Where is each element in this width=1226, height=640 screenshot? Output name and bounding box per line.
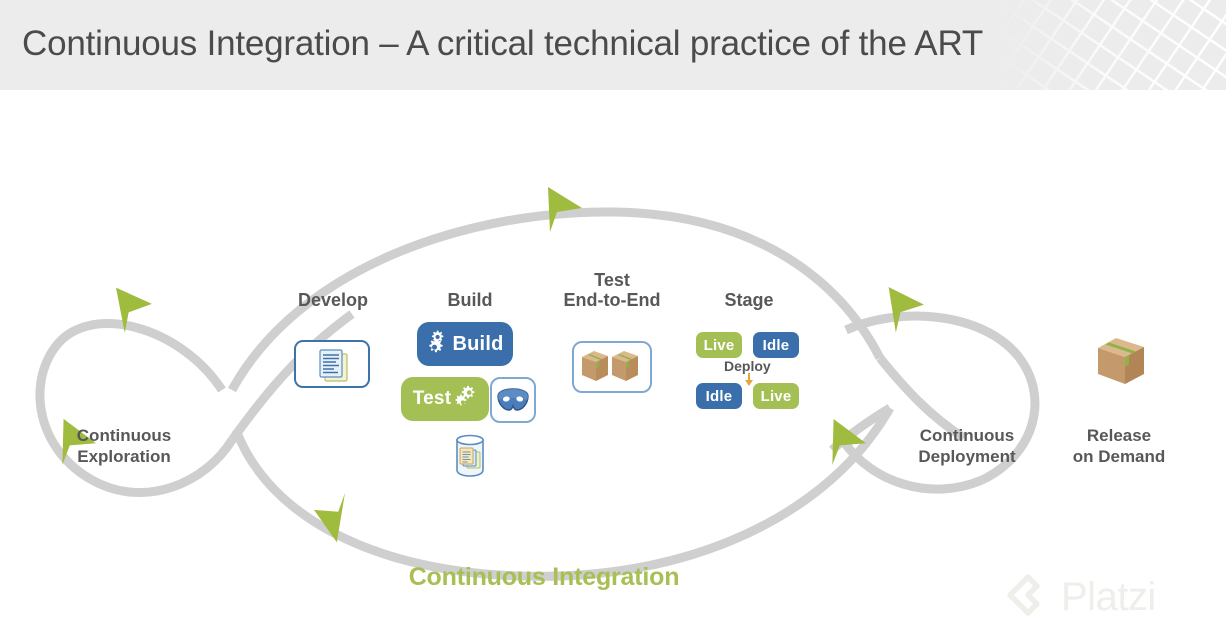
platzi-watermark: Platzi (1007, 568, 1219, 626)
database-icon-wrap (447, 430, 493, 480)
test-end-to-end-icon-box (572, 341, 652, 393)
center-lens-bottom (236, 408, 890, 576)
mask-icon (492, 379, 534, 421)
stage-label-develop: Develop (253, 290, 413, 310)
stage-label-test-end-to-end: Test End-to-End (532, 270, 692, 310)
package-icon (612, 351, 638, 381)
slide-header: Continuous Integration – A critical tech… (0, 0, 1226, 90)
build-pill-label: Build (453, 333, 504, 356)
stage-pill-idle-top: Idle (753, 332, 799, 358)
platzi-wordmark: Platzi (1061, 577, 1156, 617)
endpoint-right-line1: Continuous (888, 425, 1046, 446)
slide-canvas: Continuous Integration – A critical tech… (0, 0, 1226, 640)
test-pill-label: Test (413, 388, 451, 410)
continuous-integration-caption: Continuous Integration (0, 563, 1088, 592)
mask-icon-box (490, 377, 536, 423)
stage-label-build: Build (390, 290, 550, 310)
test-pill: Test (401, 377, 489, 421)
stage-pill-idle-bottom: Idle (696, 383, 742, 409)
platzi-diamond-logo (1007, 574, 1053, 620)
endpoint-left-line2: Exploration (45, 446, 203, 467)
develop-icon-box (294, 340, 370, 388)
page-title: Continuous Integration – A critical tech… (22, 24, 983, 64)
endpoint-farright-line1: Release (1040, 425, 1198, 446)
endpoint-label-continuous-deployment: Continuous Deployment (888, 425, 1046, 468)
gears-icon (426, 329, 456, 359)
arrowhead-right-upper (889, 285, 926, 333)
two-packages-icon (574, 343, 650, 391)
stage-label-stage: Stage (669, 290, 829, 310)
header-mesh-pattern (996, 0, 1226, 90)
release-package-wrap (1092, 332, 1150, 392)
package-icon (582, 351, 608, 381)
database-icon (447, 430, 493, 480)
stage-label-test-line1: Test (532, 270, 692, 290)
endpoint-farright-line2: on Demand (1040, 446, 1198, 467)
deploy-label: Deploy (724, 358, 771, 374)
documents-icon (296, 342, 368, 386)
stage-pill-live-bottom: Live (753, 383, 799, 409)
package-icon (1092, 332, 1150, 392)
gears-icon (453, 384, 483, 414)
endpoint-label-release-on-demand: Release on Demand (1040, 425, 1198, 468)
build-pill: Build (417, 322, 513, 366)
endpoint-label-continuous-exploration: Continuous Exploration (45, 425, 203, 468)
stage-pill-live-top: Live (696, 332, 742, 358)
stage-label-test-line2: End-to-End (532, 290, 692, 310)
deploy-arrow-icon (743, 373, 755, 387)
endpoint-left-line1: Continuous (45, 425, 203, 446)
endpoint-right-line2: Deployment (888, 446, 1046, 467)
